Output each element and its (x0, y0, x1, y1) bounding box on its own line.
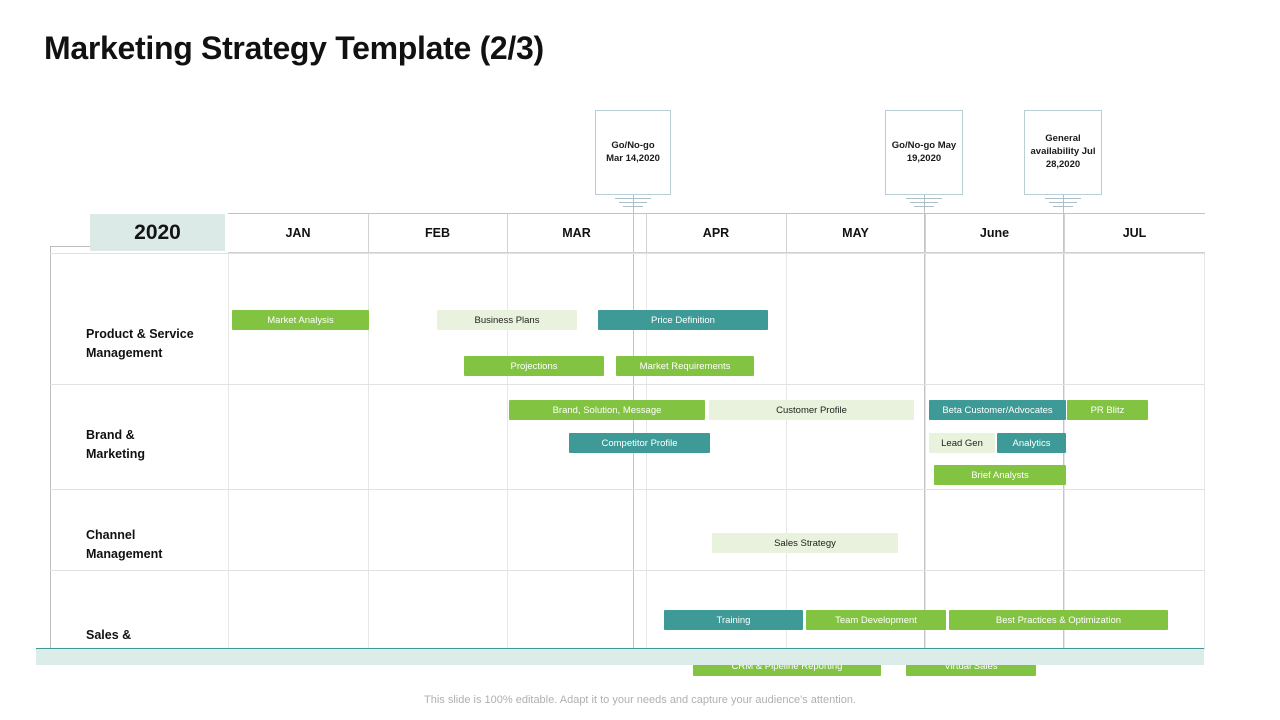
milestone-2-line2: 19,2020 (892, 153, 956, 166)
milestone-3-stem (1063, 195, 1064, 211)
task-bar-pr-blitz[interactable]: PR Blitz (1067, 400, 1148, 420)
task-bar-training[interactable]: Training (664, 610, 803, 630)
task-label: Market Requirements (640, 361, 731, 372)
row-label-product-service-management: Product & Service Management (86, 325, 194, 363)
task-bar-brand-solution-message[interactable]: Brand, Solution, Message (509, 400, 705, 420)
month-header-mar[interactable]: MAR (507, 214, 646, 252)
milestone-3-line3: 28,2020 (1031, 159, 1096, 172)
task-bar-competitor-profile[interactable]: Competitor Profile (569, 433, 710, 453)
task-label: Best Practices & Optimization (996, 615, 1121, 626)
task-bar-beta-customer-advocates[interactable]: Beta Customer/Advocates (929, 400, 1066, 420)
task-label: PR Blitz (1091, 405, 1125, 416)
task-bar-best-practices-optimization[interactable]: Best Practices & Optimization (949, 610, 1168, 630)
task-label: Customer Profile (776, 405, 847, 416)
month-header-may[interactable]: MAY (786, 214, 925, 252)
task-label: Lead Gen (941, 438, 983, 449)
task-bar-brief-analysts[interactable]: Brief Analysts (934, 465, 1066, 485)
task-label: Brief Analysts (971, 470, 1029, 481)
task-label: Market Analysis (267, 315, 334, 326)
milestone-1-line1: Go/No-go (606, 140, 660, 153)
month-header-jan[interactable]: JAN (228, 214, 368, 252)
milestone-3-line1: General (1031, 133, 1096, 146)
grid-col-line-4 (786, 253, 787, 650)
milestone-2-box[interactable]: Go/No-go May 19,2020 (885, 110, 963, 195)
task-bar-market-requirements[interactable]: Market Requirements (616, 356, 754, 376)
task-label: Projections (511, 361, 558, 372)
milestone-3-line2: availability Jul (1031, 146, 1096, 159)
year-label: 2020 (90, 214, 225, 251)
task-bar-business-plans[interactable]: Business Plans (437, 310, 577, 330)
milestone-2-stem (924, 195, 925, 211)
grid-col-line-0 (228, 253, 229, 650)
task-bar-market-analysis[interactable]: Market Analysis (232, 310, 369, 330)
row-divider-2 (50, 489, 1205, 490)
row-divider-3 (50, 570, 1205, 571)
grid-col-line-7 (1204, 253, 1205, 650)
footer-note: This slide is 100% editable. Adapt it to… (0, 694, 1280, 706)
row-divider-0 (50, 253, 1205, 254)
month-header-jul[interactable]: JUL (1064, 214, 1205, 252)
milestone-1-stem (633, 195, 634, 211)
task-bar-sales-strategy[interactable]: Sales Strategy (712, 533, 898, 553)
gantt-body: Product & Service Management Market Anal… (50, 253, 1205, 650)
task-label: Business Plans (475, 315, 540, 326)
milestone-1-line2: Mar 14,2020 (606, 153, 660, 166)
month-header-feb[interactable]: FEB (368, 214, 507, 252)
milestone-1-box[interactable]: Go/No-go Mar 14,2020 (595, 110, 671, 195)
task-bar-projections[interactable]: Projections (464, 356, 604, 376)
row-divider-1 (50, 384, 1205, 385)
gantt-chart: 2020 JAN FEB MAR APR MAY June JUL Produc… (50, 213, 1205, 650)
task-label: Team Development (835, 615, 917, 626)
month-header-row: JAN FEB MAR APR MAY June JUL (228, 213, 1205, 253)
milestone-3-box[interactable]: General availability Jul 28,2020 (1024, 110, 1102, 195)
task-label: Competitor Profile (601, 438, 677, 449)
task-bar-lead-gen[interactable]: Lead Gen (929, 433, 995, 453)
task-bar-price-definition[interactable]: Price Definition (598, 310, 768, 330)
row-label-channel-management: Channel Management (86, 526, 162, 564)
task-bar-analytics[interactable]: Analytics (997, 433, 1066, 453)
task-bar-customer-profile[interactable]: Customer Profile (709, 400, 914, 420)
footer-accent-bar (36, 648, 1204, 665)
month-header-apr[interactable]: APR (646, 214, 786, 252)
row-label-brand-marketing: Brand & Marketing (86, 426, 145, 464)
task-bar-team-development[interactable]: Team Development (806, 610, 946, 630)
page-title: Marketing Strategy Template (2/3) (44, 30, 544, 67)
grid-col-line-5 (925, 253, 926, 650)
task-label: Training (717, 615, 751, 626)
task-label: Analytics (1012, 438, 1050, 449)
task-label: Brand, Solution, Message (553, 405, 662, 416)
task-label: Sales Strategy (774, 538, 836, 549)
task-label: Price Definition (651, 315, 715, 326)
month-header-june[interactable]: June (925, 214, 1064, 252)
milestone-2-line1: Go/No-go May (892, 140, 956, 153)
task-label: Beta Customer/Advocates (942, 405, 1052, 416)
